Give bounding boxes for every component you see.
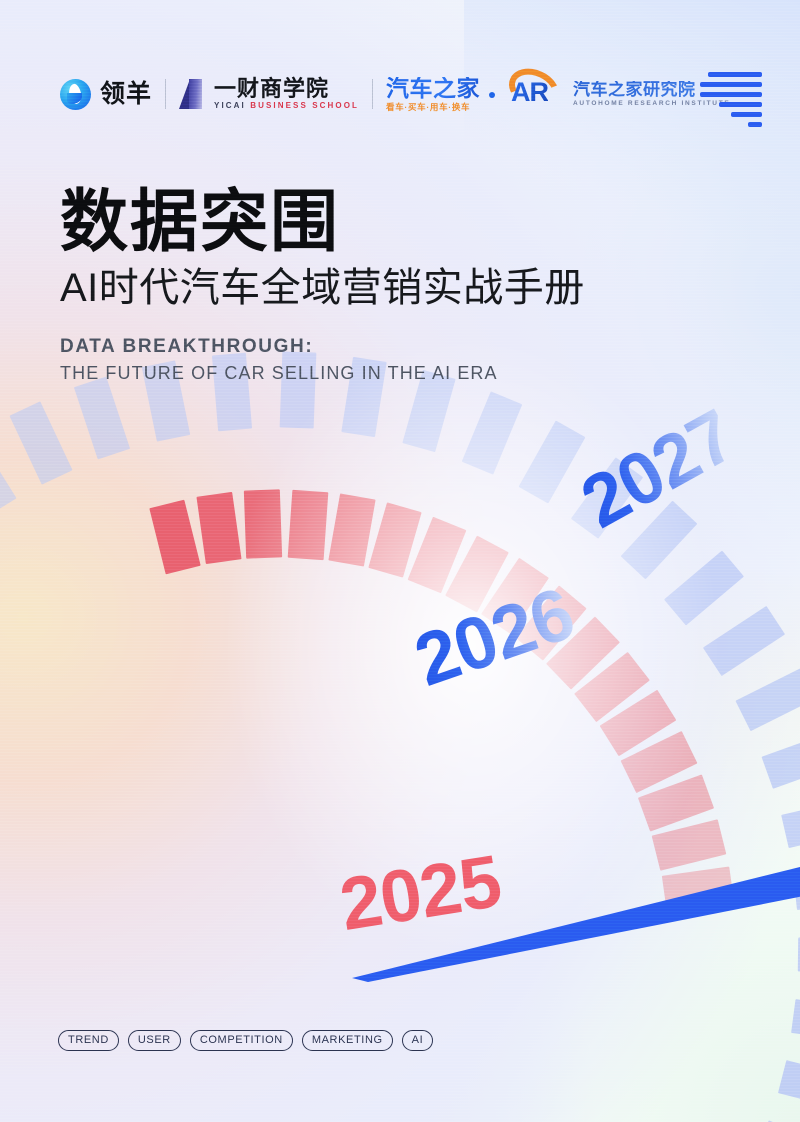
poster-canvas: 2027 2026 2025 领羊 一财商学院 YICAI BUSINESS S…	[0, 0, 800, 1122]
background-texture	[0, 0, 800, 1122]
